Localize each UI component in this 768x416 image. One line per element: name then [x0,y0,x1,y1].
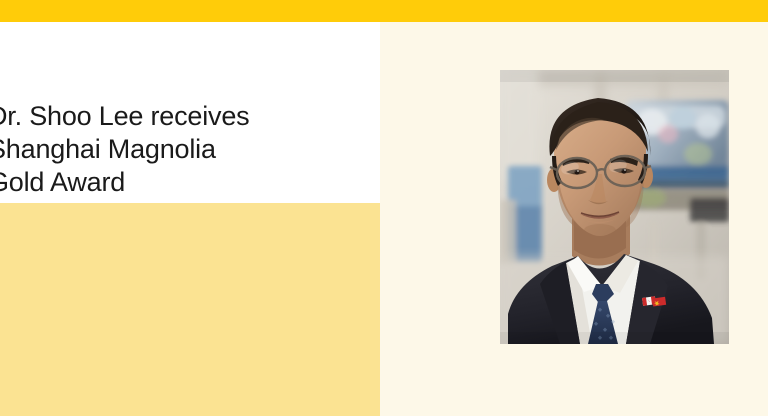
portrait-photo [500,70,729,344]
slide-canvas: Dr. Shoo Lee receives Shanghai Magnolia … [0,0,768,416]
page-title: Dr. Shoo Lee receives Shanghai Magnolia … [0,100,380,199]
yellow-accent-block [0,203,380,416]
portrait-illustration [500,70,729,344]
left-column: Dr. Shoo Lee receives Shanghai Magnolia … [0,22,380,416]
headline-panel: Dr. Shoo Lee receives Shanghai Magnolia … [0,22,380,203]
top-gold-band [0,0,768,22]
